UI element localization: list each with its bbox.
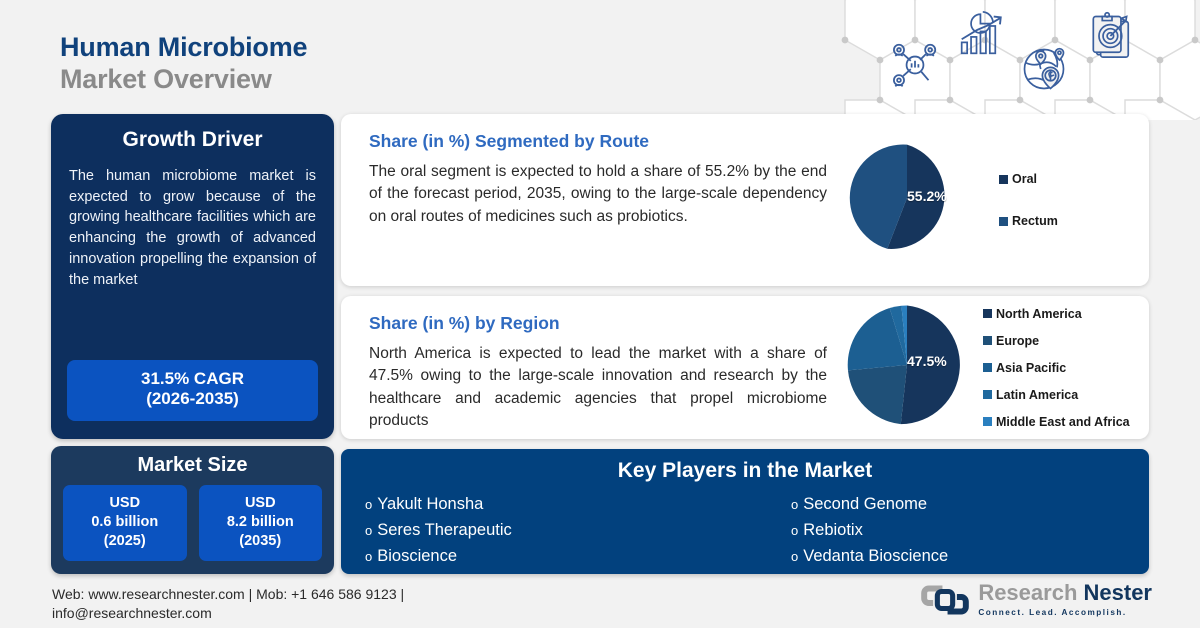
key-players-column-right: o Second Genome o Rebiotix o Vedanta Bio… xyxy=(745,491,1125,569)
footer-line-2: info@researchnester.com xyxy=(52,604,612,623)
market-size-card: Market Size USD 0.6 billion (2025) USD 8… xyxy=(51,446,334,574)
bullet-icon: o xyxy=(791,495,798,516)
legend-label: Asia Pacific xyxy=(996,361,1066,375)
route-pie-chart: 55.2% xyxy=(849,140,965,261)
market-size-year: (2025) xyxy=(65,532,185,551)
list-item: o Seres Therapeutic xyxy=(365,517,745,543)
legend-label: Middle East and Africa xyxy=(996,415,1130,429)
route-pie-data-label: 55.2% xyxy=(907,188,947,204)
legend-label: Latin America xyxy=(996,388,1078,402)
logo-word-research: Research xyxy=(978,580,1077,605)
list-item: o Second Genome xyxy=(791,491,1125,517)
legend-item-rectum: Rectum xyxy=(999,214,1058,228)
bullet-icon: o xyxy=(365,521,372,542)
bar-chart-growth-icon xyxy=(957,8,1007,58)
market-size-amount: 0.6 billion xyxy=(65,513,185,532)
bullet-icon: o xyxy=(791,547,798,568)
legend-label: Rectum xyxy=(1012,214,1058,228)
list-item: o Bioscience xyxy=(365,543,745,569)
globe-money-icon xyxy=(1018,43,1070,95)
player-name: Vedanta Bioscience xyxy=(803,543,948,569)
list-item: o Yakult Honsha xyxy=(365,491,745,517)
footer-line-1: Web: www.researchnester.com | Mob: +1 64… xyxy=(52,585,612,604)
market-size-box-2025: USD 0.6 billion (2025) xyxy=(63,485,187,561)
player-name: Rebiotix xyxy=(803,517,863,543)
legend-item-middle-east-and-africa: Middle East and Africa xyxy=(983,415,1130,429)
share-by-route-body: The oral segment is expected to hold a s… xyxy=(369,161,827,228)
share-by-region-body: North America is expected to lead the ma… xyxy=(369,343,827,432)
legend-swatch-icon xyxy=(983,417,992,426)
cagr-period: (2026-2035) xyxy=(71,389,314,410)
legend-swatch-icon xyxy=(999,175,1008,184)
legend-swatch-icon xyxy=(983,390,992,399)
legend-label: Oral xyxy=(1012,172,1037,186)
growth-driver-body: The human microbiome market is expected … xyxy=(67,166,318,290)
key-players-title: Key Players in the Market xyxy=(365,459,1125,483)
bullet-icon: o xyxy=(791,521,798,542)
people-analytics-icon xyxy=(888,38,942,92)
share-by-route-heading: Share (in %) Segmented by Route xyxy=(369,131,827,152)
footer-contact: Web: www.researchnester.com | Mob: +1 64… xyxy=(52,585,612,623)
list-item: o Vedanta Bioscience xyxy=(791,543,1125,569)
page-title: Human Microbiome Market Overview xyxy=(60,32,307,96)
logo-mark-icon xyxy=(920,583,970,617)
market-size-currency: USD xyxy=(65,494,185,513)
legend-label: Europe xyxy=(996,334,1039,348)
legend-item-oral: Oral xyxy=(999,172,1058,186)
legend-item-latin-america: Latin America xyxy=(983,388,1130,402)
cagr-badge: 31.5% CAGR (2026-2035) xyxy=(67,360,318,421)
research-nester-logo: Research Nester Connect. Lead. Accomplis… xyxy=(920,582,1152,617)
clipboard-target-icon xyxy=(1086,10,1138,62)
share-by-region-card: Share (in %) by Region North America is … xyxy=(341,296,1149,439)
logo-word-nester: Nester xyxy=(1084,580,1152,605)
legend-swatch-icon xyxy=(983,309,992,318)
legend-item-asia-pacific: Asia Pacific xyxy=(983,361,1130,375)
legend-swatch-icon xyxy=(999,217,1008,226)
bullet-icon: o xyxy=(365,547,372,568)
infographic-canvas: Human Microbiome Market Overview Growth … xyxy=(0,0,1200,628)
legend-label: North America xyxy=(996,307,1082,321)
legend-swatch-icon xyxy=(983,336,992,345)
market-size-title: Market Size xyxy=(63,454,322,477)
player-name: Yakult Honsha xyxy=(377,491,483,517)
market-size-amount: 8.2 billion xyxy=(201,513,321,532)
legend-swatch-icon xyxy=(983,363,992,372)
region-pie-data-label: 47.5% xyxy=(907,353,947,369)
region-legend: North America Europe Asia Pacific Latin … xyxy=(983,307,1130,429)
growth-driver-title: Growth Driver xyxy=(67,128,318,152)
share-by-region-heading: Share (in %) by Region xyxy=(369,313,827,334)
growth-driver-card: Growth Driver The human microbiome marke… xyxy=(51,114,334,439)
pie-slice-europe xyxy=(848,365,907,424)
market-size-currency: USD xyxy=(201,494,321,513)
logo-tagline: Connect. Lead. Accomplish. xyxy=(978,608,1152,617)
share-by-route-card: Share (in %) Segmented by Route The oral… xyxy=(341,114,1149,286)
logo-wordmark: Research Nester xyxy=(978,582,1152,604)
player-name: Second Genome xyxy=(803,491,927,517)
legend-item-europe: Europe xyxy=(983,334,1130,348)
region-pie-chart: 47.5% xyxy=(845,303,969,432)
hexagon-pattern-decoration xyxy=(840,0,1200,120)
title-secondary: Market Overview xyxy=(60,64,307,96)
cagr-value: 31.5% CAGR xyxy=(71,369,314,390)
bullet-icon: o xyxy=(365,495,372,516)
key-players-card: Key Players in the Market o Yakult Honsh… xyxy=(341,449,1149,574)
title-primary: Human Microbiome xyxy=(60,32,307,64)
legend-item-north-america: North America xyxy=(983,307,1130,321)
player-name: Seres Therapeutic xyxy=(377,517,512,543)
player-name: Bioscience xyxy=(377,543,457,569)
route-legend: Oral Rectum xyxy=(999,172,1058,228)
key-players-column-left: o Yakult Honsha o Seres Therapeutic o Bi… xyxy=(365,491,745,569)
market-size-values: USD 0.6 billion (2025) USD 8.2 billion (… xyxy=(63,485,322,561)
list-item: o Rebiotix xyxy=(791,517,1125,543)
market-size-year: (2035) xyxy=(201,532,321,551)
market-size-box-2035: USD 8.2 billion (2035) xyxy=(199,485,323,561)
